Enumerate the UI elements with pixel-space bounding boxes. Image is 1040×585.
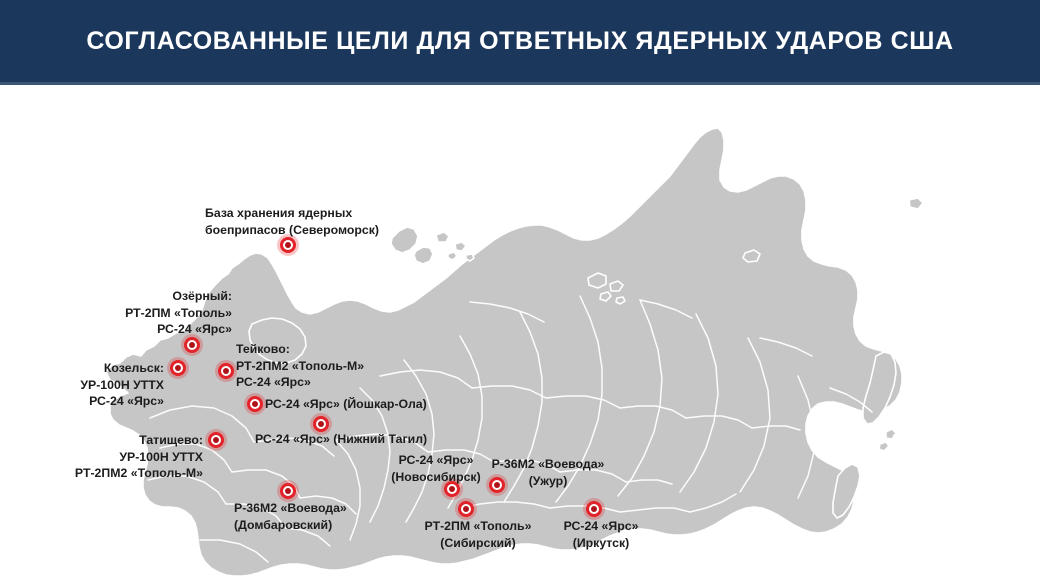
map-area: База хранения ядерных боеприпасов (Север…	[0, 88, 1040, 585]
site-marker-teykovo[interactable]	[215, 360, 237, 382]
label-line: (Иркутск)	[531, 535, 671, 552]
site-marker-dombarovsky[interactable]	[277, 480, 299, 502]
label-line: Тейково:	[236, 341, 364, 358]
russia-mainland	[106, 128, 902, 576]
site-label-irkutsk: РС-24 «Ярс» (Иркутск)	[531, 518, 671, 551]
label-line: РТ-2ПМ2 «Тополь-М»	[236, 358, 364, 375]
marker-dot-icon	[213, 437, 219, 443]
marker-dot-icon	[252, 401, 258, 407]
label-line: боеприпасов (Североморск)	[205, 222, 379, 239]
site-label-severomorsk: База хранения ядерных боеприпасов (Север…	[205, 205, 379, 238]
site-label-ozyorny: Озёрный: РТ-2ПМ «Тополь» РС-24 «Ярс»	[0, 288, 232, 338]
marker-dot-icon	[223, 368, 229, 374]
label-line: Р-36М2 «Воевода»	[468, 456, 628, 473]
site-label-nizhny-tagil: РС-24 «Ярс» (Нижний Тагил)	[255, 431, 427, 448]
kuril-islands	[886, 429, 896, 439]
label-line: База хранения ядерных	[205, 205, 379, 222]
marker-dot-icon	[318, 421, 324, 427]
label-line: Козельск:	[0, 360, 164, 377]
site-marker-sibirsky[interactable]	[455, 498, 477, 520]
kuril-islands-2	[879, 442, 889, 451]
label-line: РС-24 «Ярс» (Нижний Тагил)	[255, 431, 427, 448]
label-line: РТ-2ПМ2 «Тополь-М»	[0, 465, 203, 482]
marker-dot-icon	[463, 506, 469, 512]
marker-dot-icon	[285, 242, 291, 248]
marker-dot-icon	[591, 506, 597, 512]
label-line: (Ужур)	[468, 473, 628, 490]
marker-dot-icon	[285, 488, 291, 494]
marker-dot-icon	[189, 342, 195, 348]
label-line: РС-24 «Ярс»	[0, 321, 232, 338]
map-landmass	[106, 128, 923, 576]
page-title: СОГЛАСОВАННЫЕ ЦЕЛИ ДЛЯ ОТВЕТНЫХ ЯДЕРНЫХ …	[0, 27, 1040, 56]
site-label-teykovo: Тейково: РТ-2ПМ2 «Тополь-М» РС-24 «Ярс»	[236, 341, 364, 391]
label-line: Озёрный:	[0, 288, 232, 305]
label-line: УР-100Н УТТХ	[0, 449, 203, 466]
label-line: Р-36М2 «Воевода»	[234, 500, 347, 517]
site-label-dombarovsky: Р-36М2 «Воевода» (Домбаровский)	[234, 500, 347, 533]
label-line: РС-24 «Ярс» (Йошкар-Ола)	[265, 396, 427, 413]
label-line: РС-24 «Ярс»	[236, 374, 364, 391]
site-marker-irkutsk[interactable]	[583, 498, 605, 520]
label-line: Татищево:	[0, 432, 203, 449]
label-line: РС-24 «Ярс»	[0, 393, 164, 410]
marker-dot-icon	[175, 365, 181, 371]
site-marker-kozelsk[interactable]	[167, 357, 189, 379]
label-line: (Домбаровский)	[234, 517, 347, 534]
arctic-island-2	[455, 242, 466, 251]
label-line: РТ-2ПМ «Тополь»	[0, 305, 232, 322]
label-line: РС-24 «Ярс»	[531, 518, 671, 535]
site-label-tatishchevo: Татищево: УР-100Н УТТХ РТ-2ПМ2 «Тополь-М…	[0, 432, 203, 482]
site-label-uzhur: Р-36М2 «Воевода» (Ужур)	[468, 456, 628, 489]
site-marker-tatishchevo[interactable]	[205, 429, 227, 451]
novaya-zemlya	[391, 227, 418, 253]
nuclear-targets-map-page: СОГЛАСОВАННЫЕ ЦЕЛИ ДЛЯ ОТВЕТНЫХ ЯДЕРНЫХ …	[0, 0, 1040, 585]
site-label-kozelsk: Козельск: УР-100Н УТТХ РС-24 «Ярс»	[0, 360, 164, 410]
wrangel-island	[909, 198, 923, 209]
site-label-yoshkar-ola: РС-24 «Ярс» (Йошкар-Ола)	[265, 396, 427, 413]
header-bar: СОГЛАСОВАННЫЕ ЦЕЛИ ДЛЯ ОТВЕТНЫХ ЯДЕРНЫХ …	[0, 0, 1040, 85]
arctic-island-1	[436, 232, 449, 242]
site-marker-yoshkar-ola[interactable]	[244, 393, 266, 415]
arctic-island-3	[448, 252, 457, 260]
label-line: УР-100Н УТТХ	[0, 377, 164, 394]
marker-dot-icon	[449, 486, 455, 492]
novaya-zemlya-south	[414, 247, 433, 264]
